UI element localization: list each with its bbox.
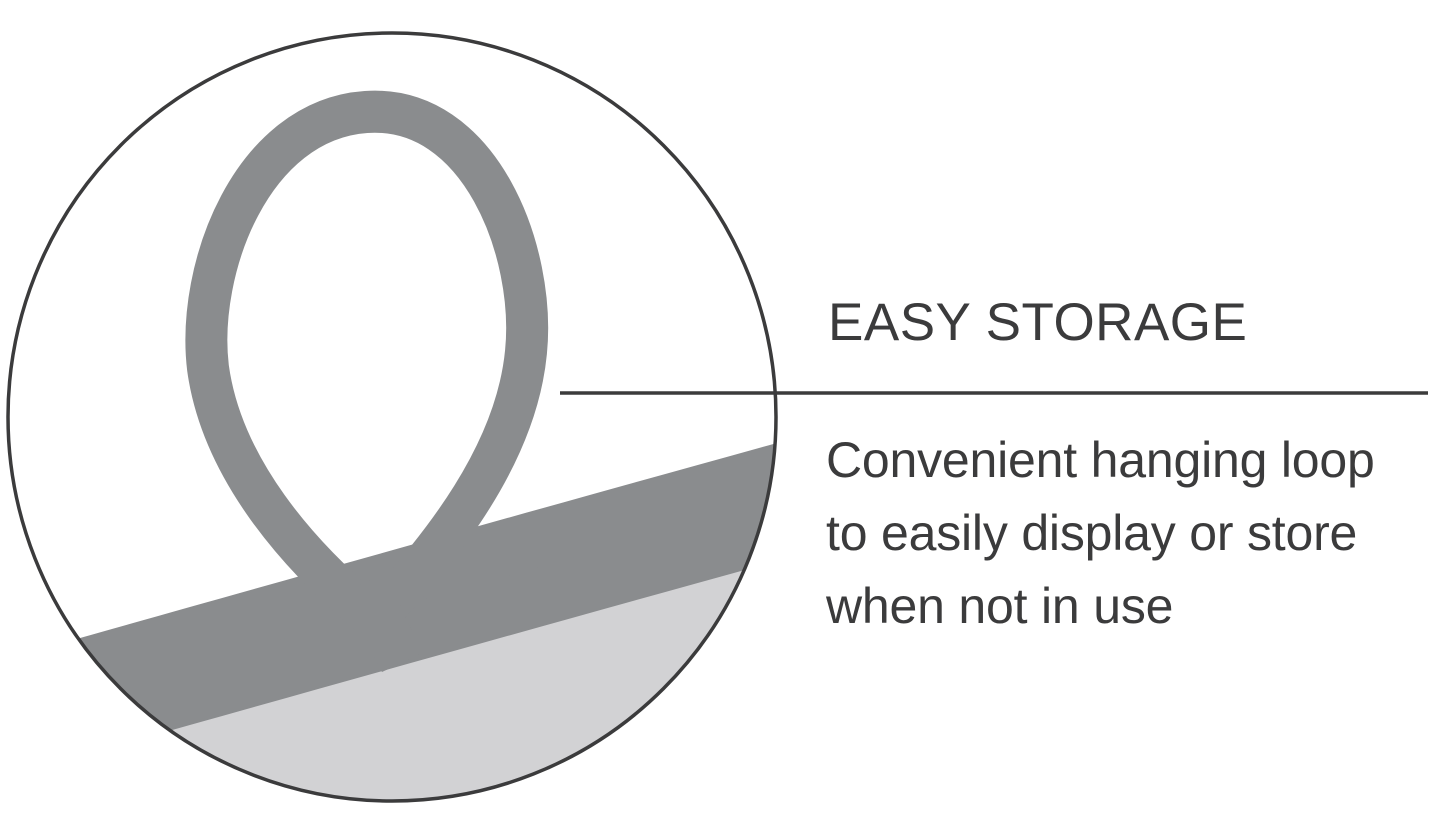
easy-storage-illustration xyxy=(0,0,1445,840)
callout-title: EASY STORAGE xyxy=(828,296,1426,349)
callout-body-block: Convenient hanging loop to easily displa… xyxy=(826,424,1436,643)
callout-body-line-2: to easily display or store xyxy=(826,497,1436,570)
callout-body-line-1: Convenient hanging loop xyxy=(826,424,1436,497)
feature-callout-figure: EASY STORAGE Convenient hanging loop to … xyxy=(0,0,1445,840)
callout-heading-block: EASY STORAGE xyxy=(826,296,1426,349)
callout-body-line-3: when not in use xyxy=(826,570,1436,643)
